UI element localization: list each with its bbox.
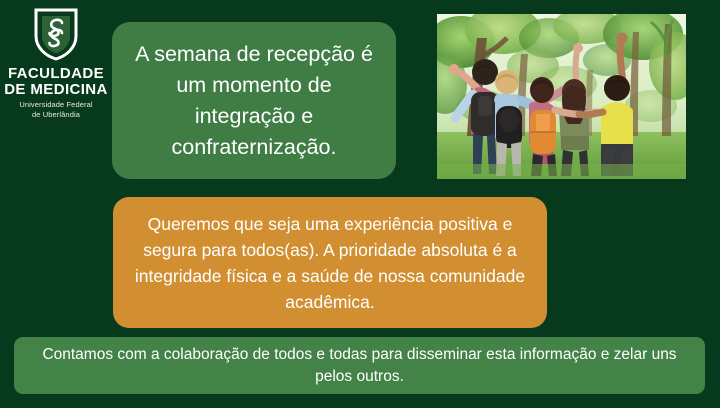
- logo-subtitle-uberlandia: de Uberlândia: [0, 110, 112, 120]
- shield-emblem-icon: [32, 6, 80, 62]
- institution-logo: FACULDADE DE MEDICINA Universidade Feder…: [0, 6, 112, 120]
- logo-line-de-medicina: DE MEDICINA: [0, 82, 112, 98]
- logo-subtitle-universidade: Universidade Federal: [0, 100, 112, 110]
- logo-line-faculdade: FACULDADE: [0, 66, 112, 82]
- notice-text: Queremos que seja uma experiência positi…: [125, 211, 535, 315]
- footer-card: Contamos com a colaboração de todos e to…: [14, 337, 705, 394]
- notice-card: Queremos que seja uma experiência positi…: [113, 197, 547, 328]
- students-photo-image: [437, 14, 686, 179]
- heading-text: A semana de recepção é um momento de int…: [126, 39, 382, 163]
- footer-text: Contamos com a colaboração de todos e to…: [24, 344, 695, 388]
- heading-card: A semana de recepção é um momento de int…: [112, 22, 396, 179]
- students-photo: [437, 14, 686, 179]
